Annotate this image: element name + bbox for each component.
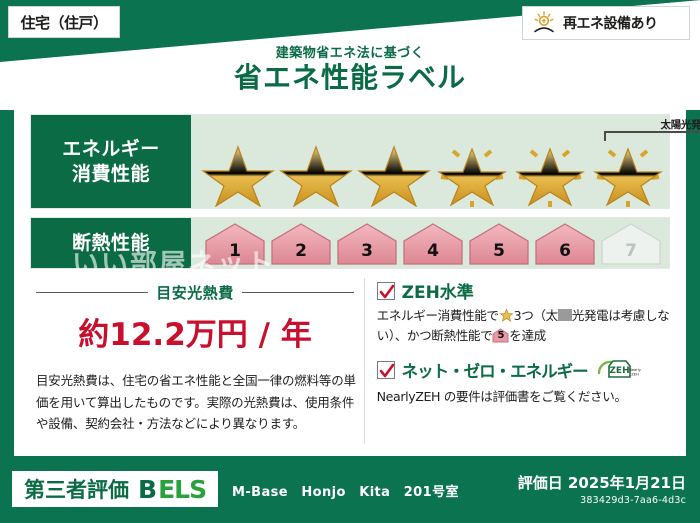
insulation-level-1: 1 [203,221,267,267]
star-solar [511,137,589,207]
insulation-level-group: 1 2 3 [203,221,663,267]
rule-right [242,292,354,293]
insulation-level-number: 4 [401,241,465,261]
zeh-desc-part-d: を達成 [509,328,546,343]
utility-cost-value: 約12.2万円 / 年 [30,309,360,354]
vertical-divider [364,278,365,444]
insulation-level-7: 7 [599,221,663,267]
inline-house-number: 5 [492,328,509,343]
net-zero-energy-row: ネット・ゼロ・エネルギー ZEH Nearly ZEH [377,358,670,382]
insulation-level-number: 7 [599,241,663,261]
evaluation-id: 383429d3-7aa6-4d3c [518,495,686,506]
net-zero-energy-description: NearlyZEH の要件は評価書をご覧ください。 [377,387,670,407]
inline-star-icon [499,308,514,323]
sun-icon [531,11,557,35]
insulation-level-6: 6 [533,221,597,267]
energy-performance-label: 住宅（住戸） 再エネ設備あり 建築物省エネ法に基づく 省エネ性能ラベル [0,0,700,523]
zeh-standard-description: エネルギー消費性能で3つ（太光発電は考慮しない）、かつ断熱性能で5を達成 [377,306,670,347]
insulation-level-number: 5 [467,241,531,261]
insulation-level-number: 2 [269,241,333,261]
energy-performance-label-cell: エネルギー 消費性能 [31,115,191,208]
star-rating-group [199,137,667,207]
zeh-desc-part-b: 3つ（太 [514,308,558,323]
bels-logo-els: ELS [158,475,206,504]
svg-text:ZEH: ZEH [631,372,639,376]
building-name: M-Base Honjo Kita 201号室 [232,481,459,500]
insulation-label-cell: 断熱性能 [31,218,191,268]
insulation-performance-row: 断熱性能 1 [30,217,670,269]
solar-bracket [604,131,700,141]
category-tag-label: 住宅（住戸） [20,12,107,33]
utility-cost-heading: 目安光熱費 [36,282,354,303]
footer-bar: 第三者評価 B ELS M-Base Honjo Kita 201号室 評価日 … [0,461,700,523]
renewable-badge-label: 再エネ設備あり [563,13,658,33]
utility-cost-note: 目安光熱費は、住宅の省エネ性能と全国一律の燃料等の単価を用いて算出したものです。… [36,370,356,435]
zeh-standard-row: ZEH水準 [377,278,670,303]
insulation-level-number: 6 [533,241,597,261]
main-panel: エネルギー 消費性能 太陽光発電(自家消費)分 [14,104,686,456]
insulation-level-number: 3 [335,241,399,261]
insulation-level-5: 5 [467,221,531,267]
checkbox-checked-icon [377,282,395,300]
utility-cost-block: 目安光熱費 約12.2万円 / 年 目安光熱費は、住宅の省エネ性能と全国一律の燃… [30,276,360,446]
energy-label-line2: 消費性能 [72,162,150,186]
svg-text:Nearly: Nearly [629,368,641,372]
energy-stars-area: 太陽光発電(自家消費)分 [191,115,669,208]
star-solar [433,137,511,207]
svg-text:ZEH: ZEH [609,366,629,376]
evaluation-date: 評価日 2025年1月21日 [518,472,686,493]
insulation-label: 断熱性能 [72,231,150,255]
evaluation-info: 評価日 2025年1月21日 383429d3-7aa6-4d3c [518,472,686,506]
star-solar [589,137,667,207]
zeh-standard-title: ZEH水準 [402,278,474,303]
redaction-mark [558,309,572,321]
zeh-block: ZEH水準 エネルギー消費性能で3つ（太光発電は考慮しない）、かつ断熱性能で5を… [375,276,670,446]
insulation-level-number: 1 [203,241,267,261]
star-filled [277,137,355,207]
bels-logo-box: 第三者評価 B ELS [12,471,218,507]
title-main: 省エネ性能ラベル [0,62,700,94]
title-block: 建築物省エネ法に基づく 省エネ性能ラベル [0,42,700,94]
energy-label-line1: エネルギー [62,137,160,161]
bels-logo-b: B [138,475,156,504]
title-subtitle: 建築物省エネ法に基づく [0,42,700,61]
rule-left [36,292,148,293]
star-filled [199,137,277,207]
insulation-level-3: 3 [335,221,399,267]
insulation-levels-area: 1 2 3 [191,218,669,268]
zeh-nearly-logo-icon: ZEH Nearly ZEH [595,358,641,382]
third-party-evaluation-label: 第三者評価 [24,474,129,504]
star-filled [355,137,433,207]
utility-cost-title: 目安光熱費 [156,282,234,303]
solar-generation-note: 太陽光発電(自家消費)分 [601,117,700,132]
net-zero-energy-title: ネット・ゼロ・エネルギー [402,358,588,382]
renewable-equipment-badge: 再エネ設備あり [522,6,690,40]
lower-section: 目安光熱費 約12.2万円 / 年 目安光熱費は、住宅の省エネ性能と全国一律の燃… [30,276,670,446]
energy-performance-row: エネルギー 消費性能 太陽光発電(自家消費)分 [30,114,670,209]
insulation-level-2: 2 [269,221,333,267]
zeh-desc-part-a: エネルギー消費性能で [377,308,499,323]
insulation-level-4: 4 [401,221,465,267]
checkbox-checked-icon [377,361,395,379]
inline-house-badge-icon: 5 [492,328,509,343]
category-tag: 住宅（住戸） [8,6,120,38]
